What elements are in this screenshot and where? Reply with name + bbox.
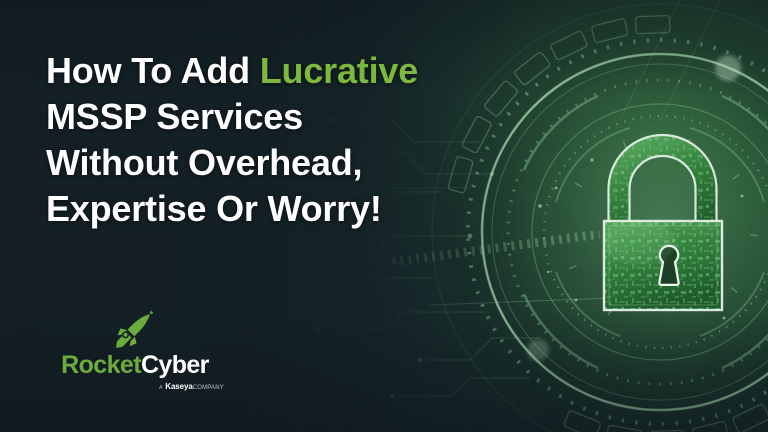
logo-tagline-suffix: COMPANY [193, 385, 224, 391]
headline-line-2: MSSP Services [46, 94, 516, 140]
logo-word-cyber: Cyber [141, 351, 209, 379]
logo-tagline: A KaseyaCOMPANY [40, 382, 230, 393]
headline-text-plain: How To Add [46, 50, 260, 91]
headline-line-4: Expertise Or Worry! [46, 186, 516, 232]
logo-wordmark: RocketCyber [40, 350, 230, 380]
logo-word-rocket: Rocket [61, 351, 141, 379]
hero-banner: How To Add Lucrative MSSP Services Witho… [0, 0, 768, 432]
headline-line-3: Without Overhead, [46, 140, 516, 186]
headline-line-1: How To Add Lucrative [46, 48, 516, 94]
rocket-icon [40, 308, 230, 350]
logo-tagline-prefix: A [159, 385, 163, 391]
headline-text-accent: Lucrative [260, 50, 418, 91]
page-title: How To Add Lucrative MSSP Services Witho… [46, 48, 516, 232]
logo-tagline-brand: Kaseya [165, 382, 192, 391]
rocketcyber-logo[interactable]: RocketCyber A KaseyaCOMPANY [40, 308, 230, 393]
